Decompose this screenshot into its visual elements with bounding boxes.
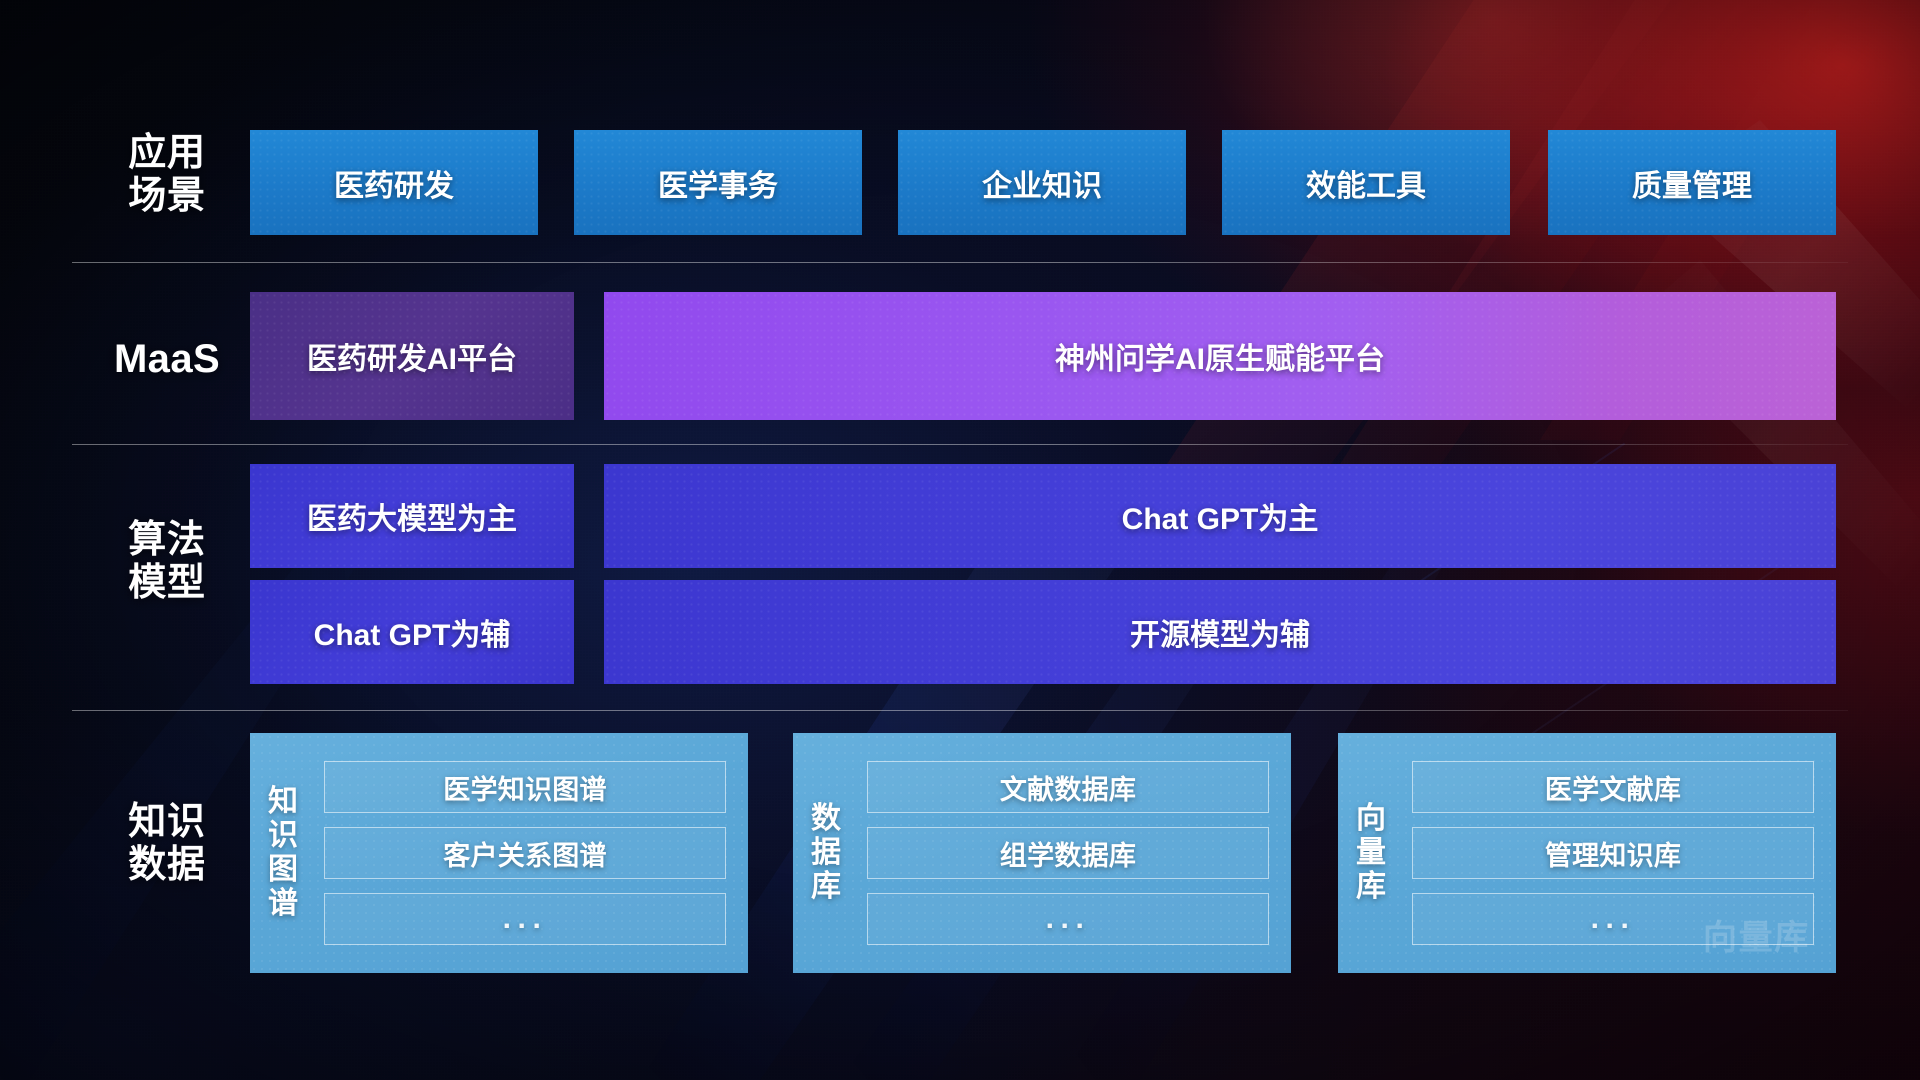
knowledge-card-1-pill-list: 文献数据库 组学数据库 ... (859, 733, 1291, 973)
knowledge-card-0-pill-list: 医学知识图谱 客户关系图谱 ... (316, 733, 748, 973)
knowledge-card-2[interactable]: 向 量 库 医学文献库 管理知识库 ... 向量库 (1338, 733, 1836, 973)
knowledge-card-0-title-char-2: 图 (268, 853, 298, 887)
knowledge-card-0-pill-2-label: ... (503, 902, 548, 936)
row-label-application: 应用 场景 (92, 132, 242, 219)
knowledge-card-1-pill-0-label: 文献数据库 (1000, 768, 1136, 807)
algorithm-left-tile-0-label: 医药大模型为主 (307, 494, 517, 538)
knowledge-card-2-pill-1-label: 管理知识库 (1545, 834, 1681, 873)
knowledge-card-1-pill-2[interactable]: ... (867, 893, 1269, 945)
knowledge-card-1-title-char-2: 库 (811, 870, 841, 904)
maas-wide-tile[interactable]: 神州问学AI原生赋能平台 (604, 292, 1836, 420)
knowledge-card-1-title-char-0: 数 (811, 802, 841, 836)
divider-algorithm-knowledge (72, 710, 1848, 711)
row-label-algorithm-line2: 模型 (92, 562, 242, 605)
knowledge-card-0-pill-2[interactable]: ... (324, 893, 726, 945)
knowledge-card-2-title-char-0: 向 (1356, 802, 1386, 836)
knowledge-card-0-title-char-3: 谱 (268, 887, 298, 921)
knowledge-card-2-pill-0-label: 医学文献库 (1545, 768, 1681, 807)
knowledge-card-1-pill-0[interactable]: 文献数据库 (867, 761, 1269, 813)
app-tile-3-label: 效能工具 (1306, 161, 1426, 205)
maas-wide-tile-label: 神州问学AI原生赋能平台 (1055, 334, 1385, 378)
knowledge-card-2-title-char-1: 量 (1356, 836, 1386, 870)
app-tile-1-label: 医学事务 (658, 161, 778, 205)
architecture-diagram: 应用 场景 医药研发 医学事务 企业知识 效能工具 质量管理 MaaS 医药研发… (0, 0, 1920, 1080)
knowledge-card-0-title-char-0: 知 (268, 785, 298, 819)
row-label-algorithm: 算法 模型 (92, 519, 242, 606)
row-label-application-line2: 场景 (92, 175, 242, 218)
app-tile-1[interactable]: 医学事务 (574, 130, 862, 235)
knowledge-card-1-pill-1[interactable]: 组学数据库 (867, 827, 1269, 879)
divider-application-maas (72, 262, 1848, 263)
knowledge-card-0[interactable]: 知 识 图 谱 医学知识图谱 客户关系图谱 ... (250, 733, 748, 973)
knowledge-card-1-title: 数 据 库 (793, 733, 859, 973)
app-tile-3[interactable]: 效能工具 (1222, 130, 1510, 235)
algorithm-wide-tile-0[interactable]: Chat GPT为主 (604, 464, 1836, 568)
knowledge-card-2-pill-list: 医学文献库 管理知识库 ... (1404, 733, 1836, 973)
knowledge-card-2-title-char-2: 库 (1356, 870, 1386, 904)
knowledge-card-0-pill-1[interactable]: 客户关系图谱 (324, 827, 726, 879)
knowledge-card-0-title-char-1: 识 (268, 819, 298, 853)
app-tile-2-label: 企业知识 (982, 161, 1102, 205)
app-tile-0-label: 医药研发 (334, 161, 454, 205)
row-label-knowledge-line2: 数据 (92, 844, 242, 887)
knowledge-card-1-title-char-1: 据 (811, 836, 841, 870)
app-tile-4[interactable]: 质量管理 (1548, 130, 1836, 235)
row-label-knowledge-line1: 知识 (92, 801, 242, 844)
knowledge-card-2-pill-0[interactable]: 医学文献库 (1412, 761, 1814, 813)
knowledge-card-1-pill-1-label: 组学数据库 (1000, 834, 1136, 873)
divider-maas-algorithm (72, 444, 1848, 445)
algorithm-left-tile-0[interactable]: 医药大模型为主 (250, 464, 574, 568)
maas-left-tile-label: 医药研发AI平台 (307, 334, 517, 378)
row-label-algorithm-line1: 算法 (92, 519, 242, 562)
row-label-maas: MaaS (92, 337, 242, 383)
knowledge-card-0-title: 知 识 图 谱 (250, 733, 316, 973)
app-tile-0[interactable]: 医药研发 (250, 130, 538, 235)
row-label-knowledge: 知识 数据 (92, 801, 242, 888)
knowledge-card-2-title: 向 量 库 (1338, 733, 1404, 973)
knowledge-card-0-pill-1-label: 客户关系图谱 (443, 834, 607, 873)
algorithm-left-tile-1[interactable]: Chat GPT为辅 (250, 580, 574, 684)
app-tile-4-label: 质量管理 (1632, 161, 1752, 205)
knowledge-card-0-pill-0-label: 医学知识图谱 (443, 768, 607, 807)
row-label-maas-text: MaaS (92, 337, 242, 383)
maas-left-tile[interactable]: 医药研发AI平台 (250, 292, 574, 420)
algorithm-wide-tile-1-label: 开源模型为辅 (1130, 610, 1310, 654)
knowledge-card-2-pill-1[interactable]: 管理知识库 (1412, 827, 1814, 879)
app-tile-2[interactable]: 企业知识 (898, 130, 1186, 235)
knowledge-card-2-pill-2-label: ... (1591, 902, 1636, 936)
knowledge-card-2-pill-2[interactable]: ... (1412, 893, 1814, 945)
knowledge-card-1[interactable]: 数 据 库 文献数据库 组学数据库 ... (793, 733, 1291, 973)
knowledge-card-1-pill-2-label: ... (1046, 902, 1091, 936)
algorithm-wide-tile-1[interactable]: 开源模型为辅 (604, 580, 1836, 684)
knowledge-card-0-pill-0[interactable]: 医学知识图谱 (324, 761, 726, 813)
algorithm-left-tile-1-label: Chat GPT为辅 (314, 610, 511, 654)
algorithm-wide-tile-0-label: Chat GPT为主 (1122, 494, 1319, 538)
row-label-application-line1: 应用 (92, 132, 242, 175)
